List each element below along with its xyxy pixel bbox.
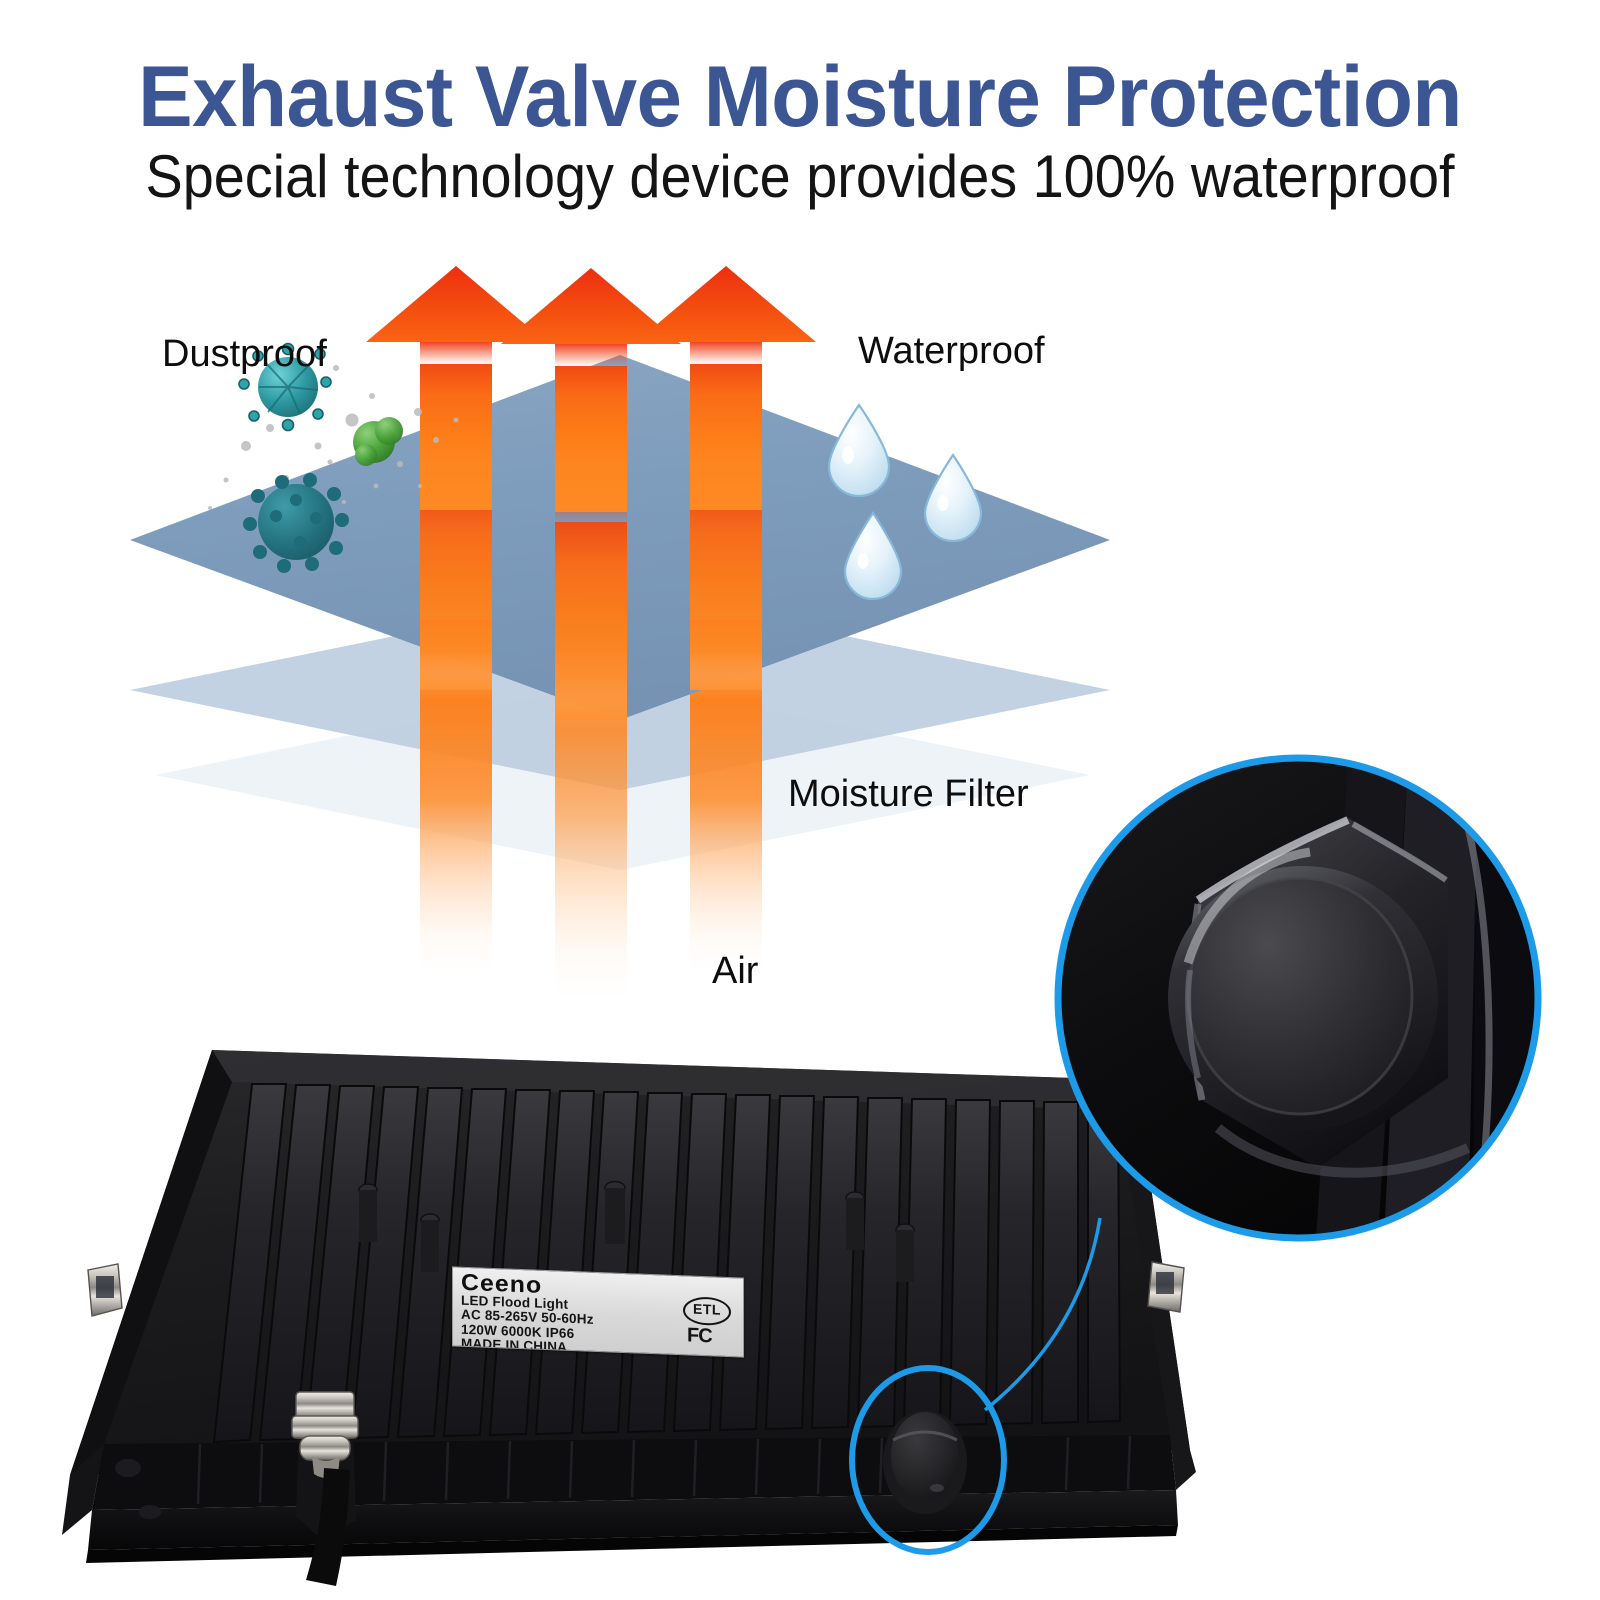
infographic-canvas: Exhaust Valve Moisture Protection Specia…: [0, 0, 1600, 1600]
magnifier-callout: [1048, 748, 1548, 1248]
etl-mark-icon: ETL: [683, 1296, 731, 1326]
magnified-valve-image: [1048, 748, 1548, 1248]
page-subtitle: Special technology device provides 100% …: [56, 142, 1544, 211]
label-air: Air: [712, 950, 758, 993]
product-spec-label: Ceeno LED Flood Light AC 85-265V 50-60Hz…: [452, 1266, 744, 1357]
water-droplet: [925, 455, 981, 541]
side-bolt-right: [1148, 1262, 1184, 1312]
page-title: Exhaust Valve Moisture Protection: [40, 48, 1560, 147]
water-droplet: [829, 405, 889, 496]
certification-marks: ETL FC: [675, 1296, 737, 1352]
label-dustproof: Dustproof: [162, 333, 327, 376]
label-waterproof: Waterproof: [858, 330, 1045, 373]
label-moisture-filter: Moisture Filter: [788, 773, 1029, 816]
exhaust-valve-on-product: [883, 1410, 967, 1514]
fc-mark-icon: FC: [687, 1324, 712, 1348]
side-bolt-left: [88, 1264, 122, 1316]
